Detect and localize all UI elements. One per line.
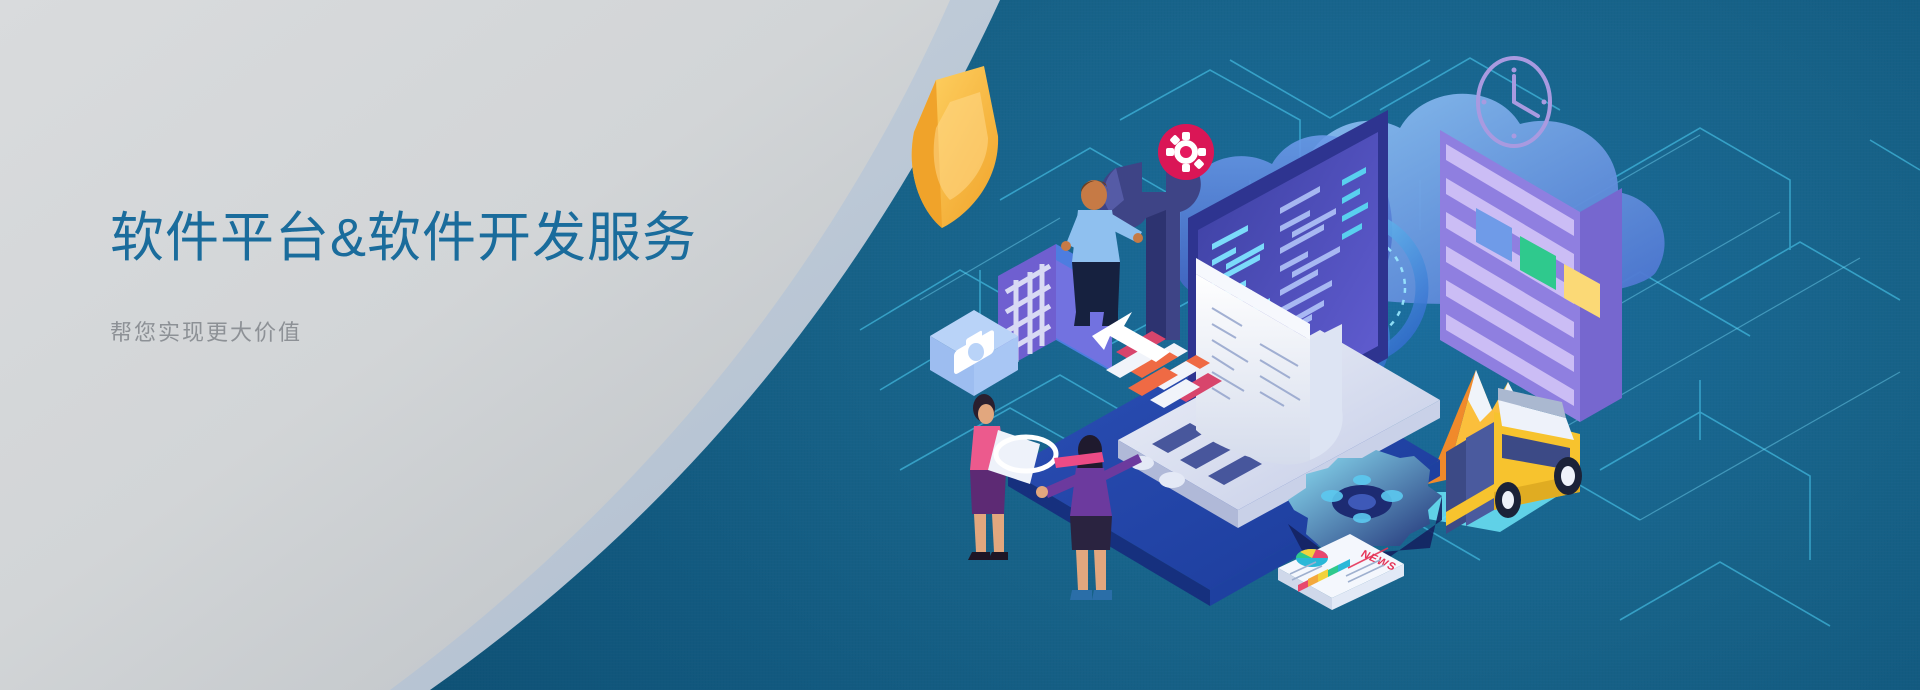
hero-banner: 软件平台&软件开发服务 帮您实现更大价值 bbox=[0, 0, 1920, 690]
hero-illustration: NEWS bbox=[880, 40, 1920, 660]
analyst-figure-pink bbox=[968, 394, 1040, 560]
page-subtitle: 帮您实现更大价值 bbox=[110, 315, 830, 347]
shield-icon bbox=[912, 66, 998, 228]
copy-block: 软件平台&软件开发服务 帮您实现更大价值 bbox=[110, 205, 830, 347]
page-title: 软件平台&软件开发服务 bbox=[110, 205, 830, 273]
illustration-svg: NEWS bbox=[880, 40, 1920, 660]
gear-badge-icon bbox=[1158, 124, 1214, 180]
